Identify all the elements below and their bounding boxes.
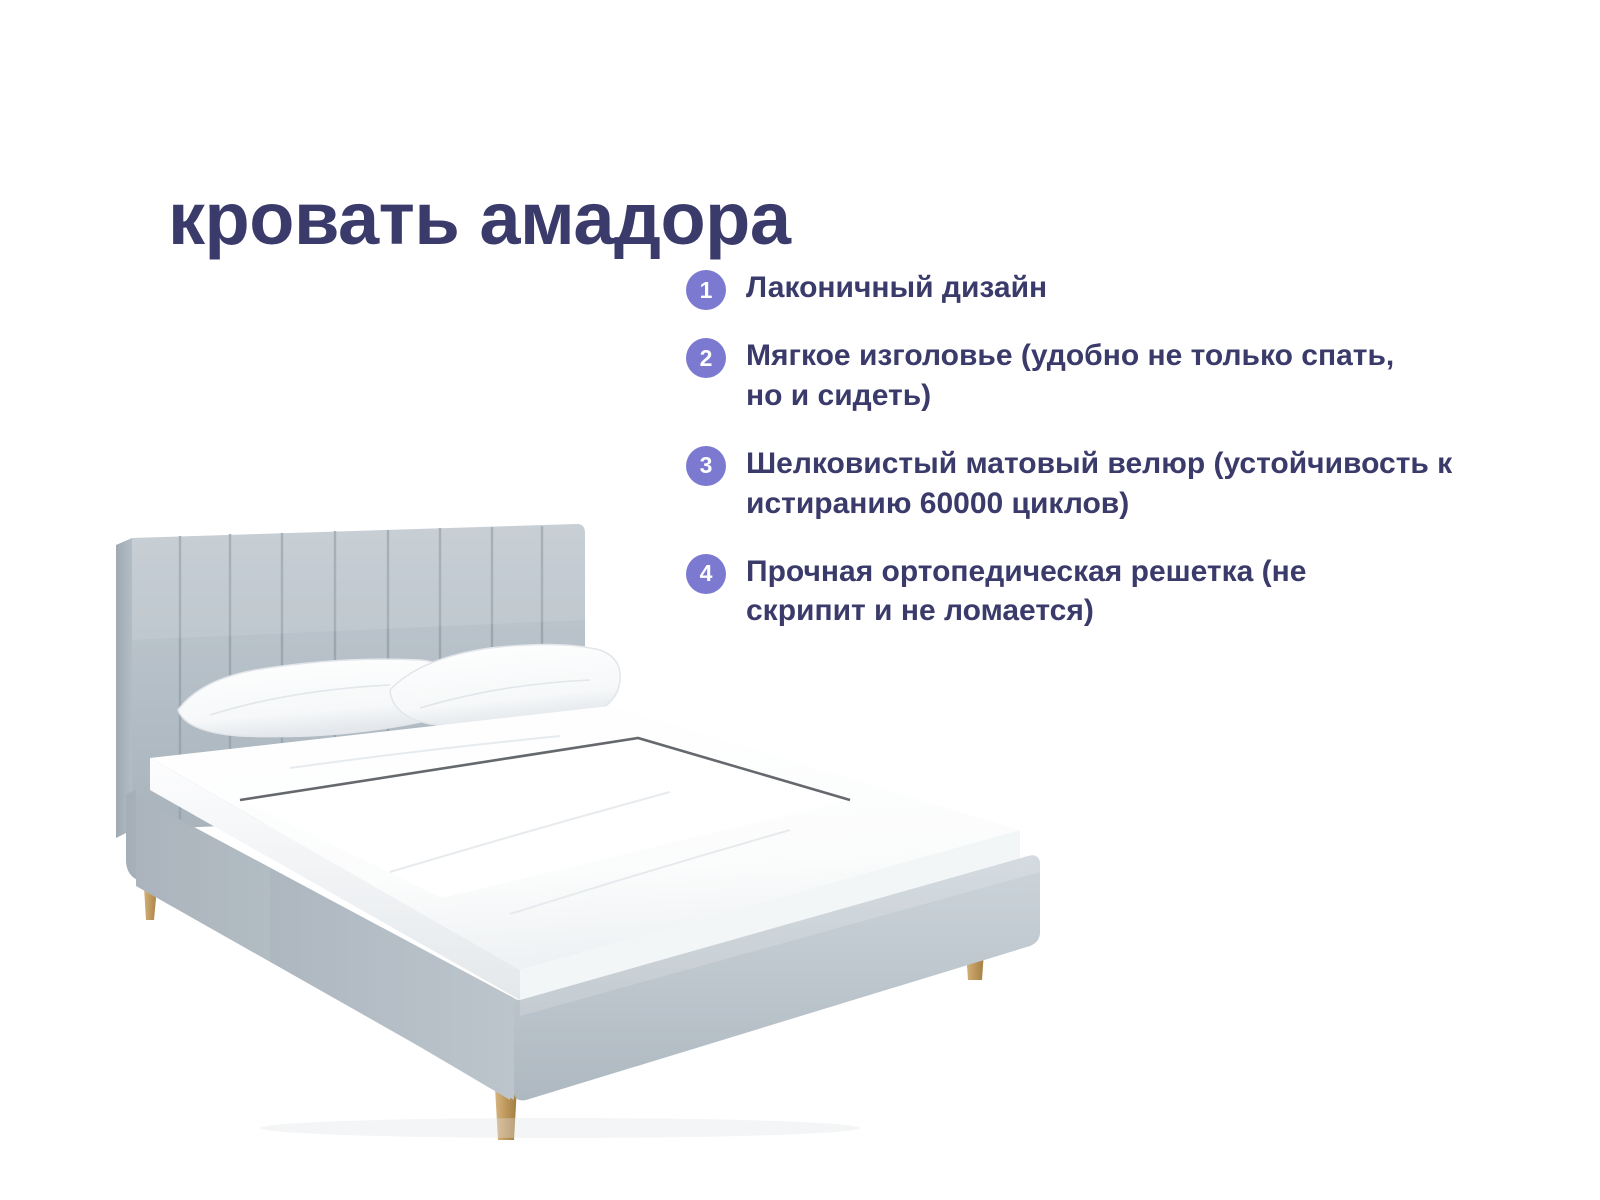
feature-text-1: Лаконичный дизайн xyxy=(746,268,1047,308)
feature-text-2: Мягкое изголовье (удобно не только спать… xyxy=(746,336,1396,416)
floor-shadow xyxy=(260,1118,860,1138)
bed-illustration xyxy=(90,500,1100,1140)
feature-badge-3: 3 xyxy=(686,446,726,486)
product-photo-bed xyxy=(90,500,1100,1140)
feature-badge-1: 1 xyxy=(686,270,726,310)
feature-badge-2: 2 xyxy=(686,338,726,378)
feature-item-1: 1 Лаконичный дизайн xyxy=(686,268,1506,310)
headboard-highlight xyxy=(132,524,585,640)
feature-item-2: 2 Мягкое изголовье (удобно не только спа… xyxy=(686,336,1506,416)
infographic-canvas: кровать амадора 1 Лаконичный дизайн 2 Мя… xyxy=(0,0,1600,1200)
page-title: кровать амадора xyxy=(168,182,791,256)
